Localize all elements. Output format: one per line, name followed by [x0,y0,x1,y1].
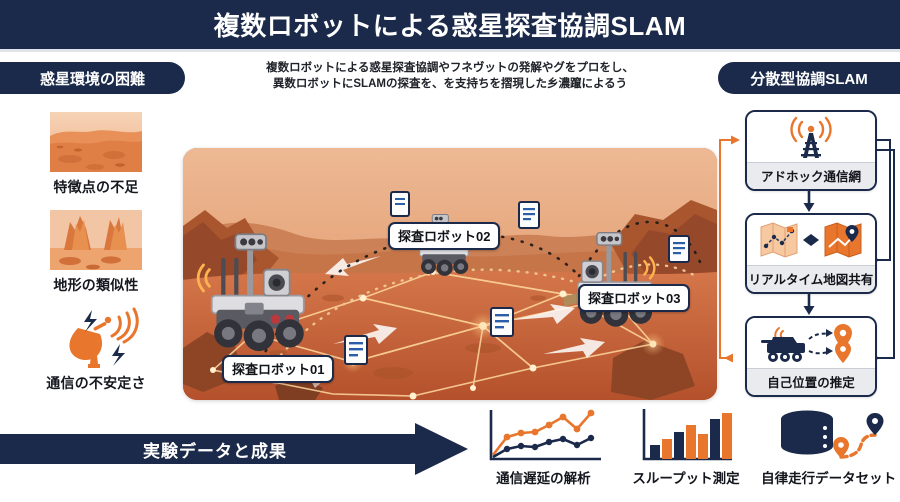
left-item-terrain-similarity: 地形の類似性 [12,208,180,295]
robot-tag-01: 探査ロボット01 [222,355,334,383]
flow-arrow-1 [745,191,873,213]
right-flow-column: アドホック通信網 [745,110,873,397]
satellite-dish-icon [48,306,144,370]
result-label: 通信遅延の解析 [496,467,591,487]
arrow-down-icon [801,294,817,316]
result-item-dataset: 自律走行データセット [757,405,900,500]
left-item-label: 特徴点の不足 [12,177,180,197]
rover-localization-icon [759,321,863,365]
robot-tag-02: 探査ロボット02 [388,222,500,250]
sand-plain-icon [48,110,144,174]
result-art [636,405,736,465]
subtitle: 複数ロボットによる惑星探査協調やフネヴットの発解やグをプロをし、 異数ロボットに… [198,60,702,92]
result-label: スループット測定 [632,467,739,487]
result-item-throughput: スループット測定 [615,405,758,500]
left-item-label: 通信の不安定さ [12,373,180,393]
bar-chart-icon [636,407,736,465]
results-banner-label: 実験データと成果 [0,423,430,475]
left-item-label: 地形の類似性 [12,275,180,295]
infographic-root: 複数ロボットによる惑星探査協調SLAM 惑星環境の困難 分散型協調SLAM 複数… [0,0,900,502]
flow-card-art [747,318,875,368]
flow-card-label: リアルタイム地図共有 [747,265,875,292]
robot-tag-03: 探査ロボット03 [578,284,690,312]
flow-card-adhoc-network: アドホック通信網 [745,110,877,191]
radio-tower-icon [780,114,842,160]
subtitle-line-1: 複数ロボットによる惑星探査協調やフネヴットの発解やグをプロをし、 [198,60,702,76]
header-divider [0,49,900,52]
flow-card-label: 自己位置の推定 [747,368,875,395]
left-item-comm-instability: 通信の不安定さ [12,306,180,393]
page-title: 複数ロボットによる惑星探査協調SLAM [214,6,686,43]
flow-card-art [747,112,875,162]
result-label: 自律走行データセット [761,467,896,487]
left-section-badge-label: 惑星環境の困難 [40,68,145,89]
flow-card-map-sharing: リアルタイム地図共有 [745,213,877,294]
subtitle-line-2: 異数ロボットにSLAMの探査を、を支持ちを摺現した乡濃躥によるう [198,76,702,92]
result-art [481,405,605,465]
right-section-badge: 分散型協調SLAM [718,62,900,94]
left-item-feature-lack: 特徴点の不足 [12,110,180,197]
results-banner: 実験データと成果 [0,423,470,475]
left-section-badge: 惑星環境の困難 [0,62,185,94]
result-art [773,405,885,465]
flow-card-label: アドホック通信網 [747,162,875,189]
flow-arrow-2 [745,294,873,316]
map-sharing-icon [759,219,863,261]
left-challenges-column: 特徴点の不足 地形の類似性 [12,110,180,404]
arrow-down-icon [801,191,817,213]
mesa-terrain-icon [48,208,144,272]
flow-card-self-localization: 自己位置の推定 [745,316,877,397]
page-header: 複数ロボットによる惑星探査協調SLAM [0,0,900,49]
right-section-badge-label: 分散型協調SLAM [750,68,868,89]
database-route-icon [773,407,885,465]
result-item-latency: 通信遅延の解析 [472,405,615,500]
flow-card-art [747,215,875,265]
results-row: 通信遅延の解析 スループット測定 [472,405,900,500]
line-chart-icon [481,407,605,465]
